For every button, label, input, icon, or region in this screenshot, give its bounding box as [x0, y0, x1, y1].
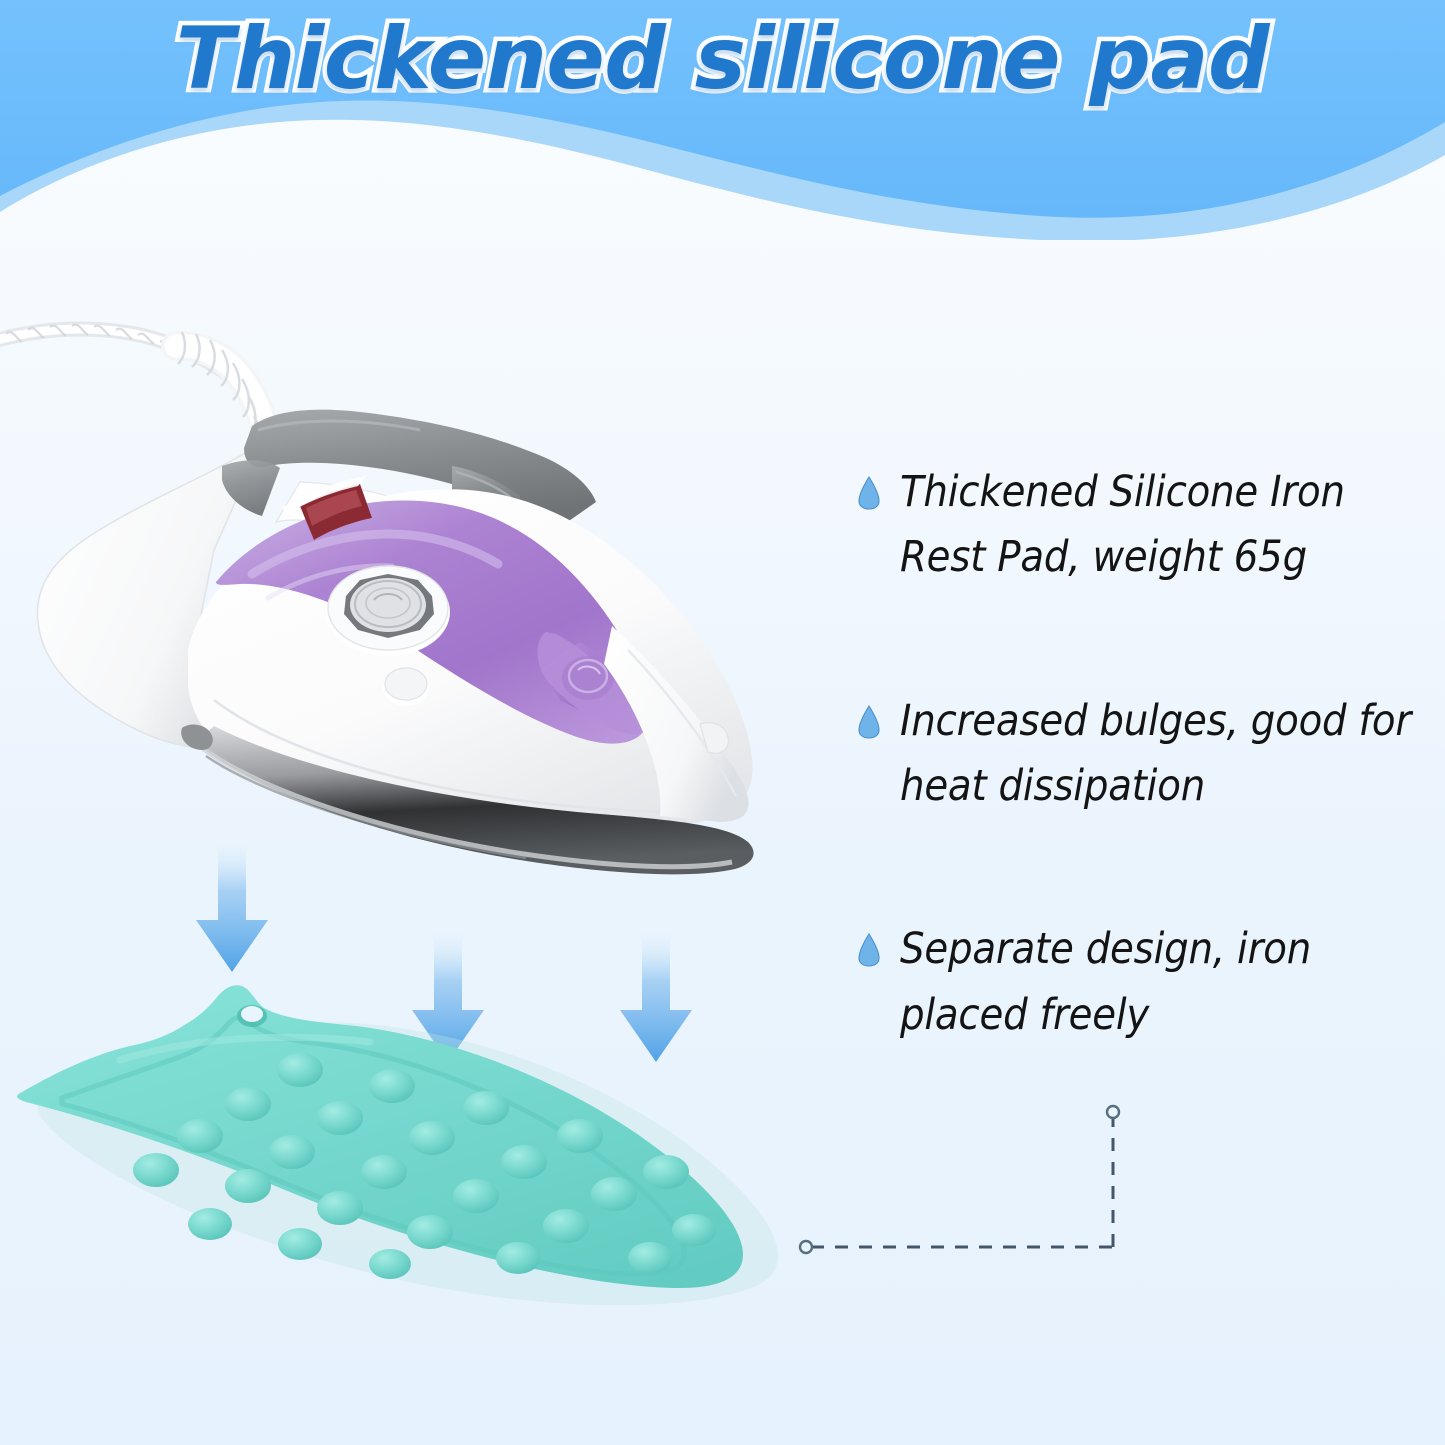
- feature-item: Separate design, iron placed freely: [858, 917, 1438, 1048]
- feature-list: Thickened Silicone Iron Rest Pad, weight…: [858, 460, 1438, 1146]
- iron-temperature-dial: [326, 566, 450, 656]
- dimension-callout: [795, 1095, 1135, 1265]
- product-photo-stage: [0, 230, 860, 1350]
- feature-text: Increased bulges, good for heat dissipat…: [900, 689, 1430, 820]
- feature-item: Increased bulges, good for heat dissipat…: [858, 689, 1438, 820]
- page-title: Thickened silicone pad: [0, 14, 1445, 104]
- callout-endpoint-start: [800, 1241, 812, 1253]
- pad-hanging-hole: [237, 1005, 267, 1027]
- down-arrow-3: [620, 930, 692, 1062]
- iron-pad-bullet-icon: [858, 476, 880, 510]
- product-infographic: Thickened silicone pad: [0, 0, 1445, 1445]
- iron-pad-bullet-icon: [858, 933, 880, 967]
- feature-item: Thickened Silicone Iron Rest Pad, weight…: [858, 460, 1438, 591]
- iron-pad-bullet-icon: [858, 705, 880, 739]
- steam-iron: [37, 410, 753, 875]
- callout-endpoint-end: [1107, 1106, 1119, 1118]
- feature-text: Thickened Silicone Iron Rest Pad, weight…: [900, 460, 1430, 591]
- power-cord: [0, 325, 266, 450]
- down-arrow-1: [196, 840, 268, 972]
- feature-text: Separate design, iron placed freely: [900, 917, 1430, 1048]
